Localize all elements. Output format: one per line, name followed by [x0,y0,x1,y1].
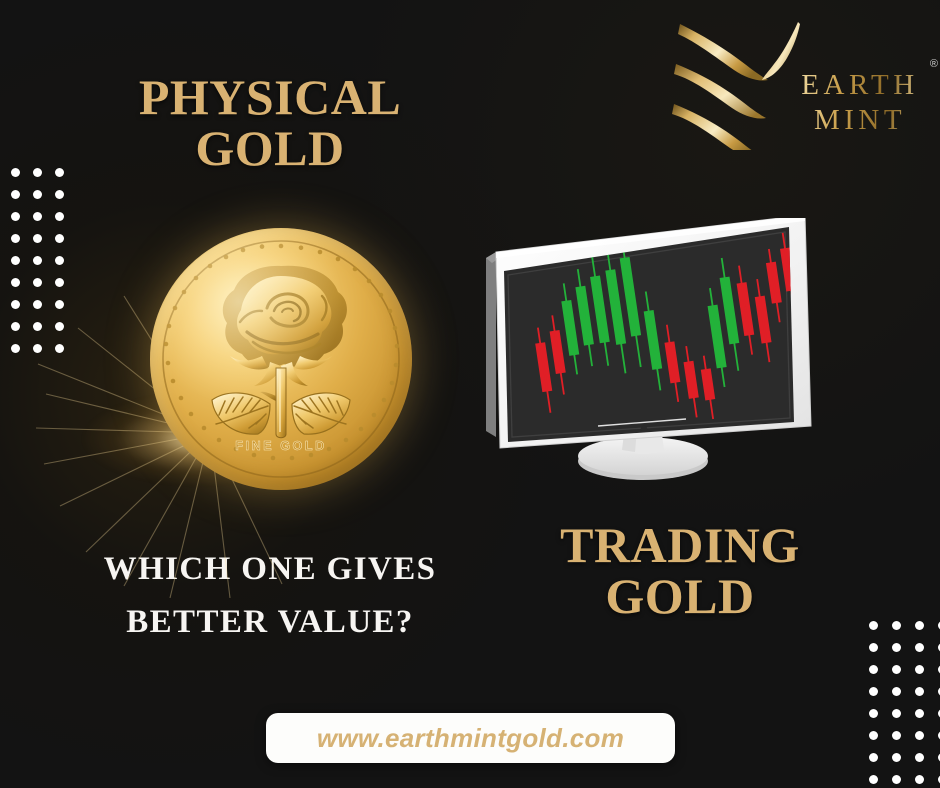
logo-text-mint: MINT [794,103,926,138]
website-url-text: www.earthmintgold.com [317,723,624,754]
left-grid-dot [11,278,20,287]
right-grid-dot [869,753,878,762]
left-grid-dot [11,300,20,309]
coin-relief-icon: FINE GOLD [150,228,412,490]
right-grid-dot [915,621,924,630]
registered-trademark-icon: ® [930,58,938,71]
left-grid-dot [11,212,20,221]
left-grid-dot [33,300,42,309]
right-grid-dot [869,709,878,718]
monitor-power-led [641,426,647,432]
monitor-side-edge [486,252,496,437]
trading-gold-line-2: GOLD [520,571,840,622]
right-grid-dot [892,665,901,674]
right-grid-dot [915,775,924,784]
right-grid-dot [869,731,878,740]
physical-gold-line-1: PHYSICAL [110,72,430,123]
earth-mint-logo: EARTH MINT ® [672,16,924,156]
logo-text-earth: EARTH [794,68,926,103]
right-grid-dot [915,687,924,696]
left-grid-dot [55,212,64,221]
poster-canvas: EARTH MINT ® PHYSICAL GOLD TRADING GOLD … [0,0,940,788]
right-grid-dot [915,709,924,718]
right-grid-dot [892,753,901,762]
right-grid-dot [915,731,924,740]
right-grid-dot [892,643,901,652]
right-grid-dot [869,687,878,696]
right-grid-dot [915,665,924,674]
right-grid-dot [892,709,901,718]
left-grid-dot [33,168,42,177]
right-grid-dot [915,643,924,652]
left-grid-dot [55,322,64,331]
gold-coin: FINE GOLD [150,228,412,490]
left-grid-dot [55,300,64,309]
left-grid-dot [33,256,42,265]
left-grid-dot [55,168,64,177]
monitor-icon [478,218,816,483]
left-grid-dot [11,322,20,331]
right-grid-dot [869,621,878,630]
left-dot-grid [11,168,77,366]
right-grid-dot [892,621,901,630]
left-grid-dot [33,344,42,353]
right-grid-dot [892,731,901,740]
trading-gold-line-1: TRADING [520,520,840,571]
left-grid-dot [11,344,20,353]
right-grid-dot [869,665,878,674]
earth-mint-wing-mark-icon [672,16,800,150]
left-grid-dot [55,278,64,287]
left-grid-dot [33,190,42,199]
website-pill[interactable]: www.earthmintgold.com [266,713,675,763]
right-grid-dot [892,775,901,784]
left-grid-dot [55,190,64,199]
trading-gold-heading: TRADING GOLD [520,520,840,622]
right-grid-dot [892,687,901,696]
right-dot-grid [869,621,940,788]
left-grid-dot [33,278,42,287]
left-grid-dot [11,190,20,199]
right-grid-dot [869,643,878,652]
left-grid-dot [55,234,64,243]
right-grid-dot [869,775,878,784]
left-grid-dot [33,234,42,243]
left-grid-dot [11,256,20,265]
left-grid-dot [11,168,20,177]
question-heading: WHICH ONE GIVES BETTER VALUE? [55,543,485,650]
physical-gold-line-2: GOLD [110,123,430,174]
left-grid-dot [55,344,64,353]
physical-gold-heading: PHYSICAL GOLD [110,72,430,174]
left-grid-dot [11,234,20,243]
logo-wordmark: EARTH MINT ® [794,68,926,139]
question-line-1: WHICH ONE GIVES [55,543,485,596]
right-grid-dot [915,753,924,762]
trading-monitor [478,218,816,483]
left-grid-dot [55,256,64,265]
left-grid-dot [33,212,42,221]
left-grid-dot [33,322,42,331]
question-line-2: BETTER VALUE? [55,596,485,649]
